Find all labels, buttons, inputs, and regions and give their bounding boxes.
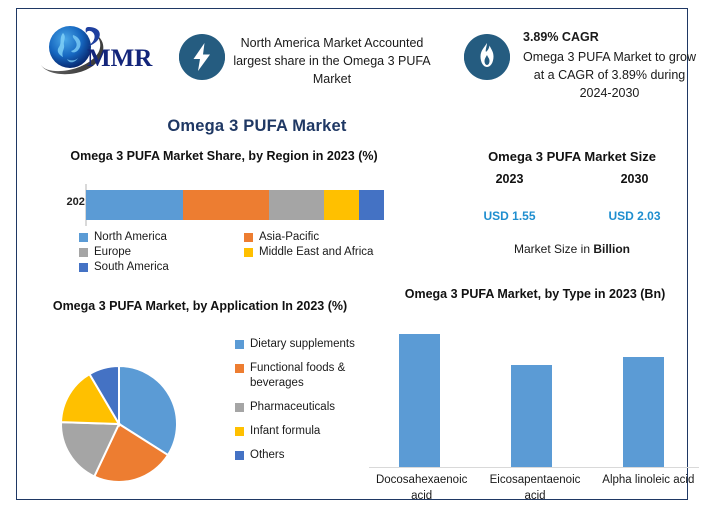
- logo-text: MMR: [87, 45, 153, 72]
- legend-swatch-icon: [79, 263, 88, 272]
- region-legend-label: Asia-Pacific: [259, 231, 319, 243]
- globe-icon: MMR: [37, 21, 167, 79]
- legend-swatch-icon: [244, 248, 253, 257]
- region-segment-0: [86, 190, 183, 220]
- lightning-bolt-badge: [179, 34, 225, 80]
- application-legend-item[interactable]: Others: [235, 448, 385, 463]
- region-stacked-bar-chart: 2023: [39, 184, 399, 226]
- market-size-value-2023: USD 1.55: [447, 209, 572, 223]
- flame-badge: [464, 34, 510, 80]
- application-legend-item[interactable]: Infant formula: [235, 424, 385, 439]
- type-bar-1: [511, 365, 552, 467]
- region-segment-1: [183, 190, 269, 220]
- cagr-value: 3.89% CAGR: [523, 28, 702, 46]
- region-category-label: 2023: [39, 196, 91, 208]
- legend-row: North AmericaAsia-Pacific: [79, 231, 409, 243]
- region-segment-3: [324, 190, 358, 220]
- type-category-label: Alpha linoleic acid: [592, 473, 704, 504]
- legend-swatch-icon: [235, 340, 244, 349]
- region-legend-label: South America: [94, 261, 169, 273]
- type-chart-title: Omega 3 PUFA Market, by Type in 2023 (Bn…: [375, 286, 695, 303]
- legend-swatch-icon: [235, 364, 244, 373]
- legend-swatch-icon: [235, 427, 244, 436]
- market-size-unit: Market Size in Billion: [447, 242, 697, 256]
- infographic-frame: MMR North America Market Accounted large…: [16, 8, 688, 500]
- market-size-unit-bold: Billion: [593, 242, 630, 256]
- application-legend-item[interactable]: Dietary supplements: [235, 337, 385, 352]
- application-legend-label: Pharmaceuticals: [250, 400, 335, 415]
- legend-swatch-icon: [235, 451, 244, 460]
- lightning-bolt-icon: [179, 34, 225, 80]
- market-size-year-2023: 2023: [447, 172, 572, 186]
- application-pie-chart: [59, 364, 179, 484]
- legend-row: South America: [79, 261, 409, 273]
- region-legend-label: Middle East and Africa: [259, 246, 373, 258]
- region-legend-label: North America: [94, 231, 167, 243]
- type-bar-2: [623, 357, 664, 467]
- type-category-labels: Docosahexaenoic acidEicosapentaenoic aci…: [365, 473, 704, 504]
- region-segment-4: [359, 190, 384, 220]
- market-size-unit-prefix: Market Size in: [514, 242, 593, 256]
- region-segment-2: [269, 190, 324, 220]
- flame-icon: [464, 34, 510, 80]
- region-legend-item[interactable]: North America: [79, 231, 244, 243]
- region-legend-item[interactable]: Asia-Pacific: [244, 231, 409, 243]
- application-legend-item[interactable]: Functional foods & beverages: [235, 361, 385, 391]
- cagr-note: 3.89% CAGR Omega 3 PUFA Market to grow a…: [517, 28, 702, 103]
- region-chart-title: Omega 3 PUFA Market Share, by Region in …: [59, 148, 389, 165]
- type-bar-0: [399, 334, 440, 467]
- market-size-value-2030: USD 2.03: [572, 209, 697, 223]
- pie-svg: [59, 364, 179, 484]
- application-legend: Dietary supplementsFunctional foods & be…: [235, 337, 385, 472]
- region-bar-track: [86, 190, 384, 220]
- region-legend-item[interactable]: Europe: [79, 246, 244, 258]
- application-legend-label: Functional foods & beverages: [250, 361, 385, 391]
- region-legend: North AmericaAsia-PacificEuropeMiddle Ea…: [79, 231, 409, 276]
- legend-row: EuropeMiddle East and Africa: [79, 246, 409, 258]
- market-size-values: USD 1.55 USD 2.03: [447, 209, 697, 223]
- application-legend-label: Dietary supplements: [250, 337, 355, 352]
- region-legend-item[interactable]: Middle East and Africa: [244, 246, 409, 258]
- legend-swatch-icon: [244, 233, 253, 242]
- application-legend-label: Others: [250, 448, 285, 463]
- infographic-canvas: MMR North America Market Accounted large…: [0, 0, 704, 522]
- mmr-logo[interactable]: MMR: [37, 21, 167, 79]
- market-size-years: 2023 2030: [447, 172, 697, 186]
- north-america-note: North America Market Accounted largest s…: [232, 34, 432, 88]
- region-legend-label: Europe: [94, 246, 131, 258]
- page-title: Omega 3 PUFA Market: [17, 117, 497, 136]
- type-plot-area: [369, 324, 699, 467]
- type-axis-line: [369, 467, 699, 468]
- application-legend-item[interactable]: Pharmaceuticals: [235, 400, 385, 415]
- cagr-description: Omega 3 PUFA Market to grow at a CAGR of…: [517, 48, 702, 102]
- application-chart-title: Omega 3 PUFA Market, by Application In 2…: [25, 298, 375, 315]
- market-size-title: Omega 3 PUFA Market Size: [447, 149, 697, 164]
- type-bar-chart: [369, 324, 699, 469]
- legend-swatch-icon: [235, 403, 244, 412]
- application-legend-label: Infant formula: [250, 424, 320, 439]
- legend-swatch-icon: [79, 233, 88, 242]
- market-size-year-2030: 2030: [572, 172, 697, 186]
- type-category-label: Docosahexaenoic acid: [365, 473, 478, 504]
- legend-swatch-icon: [79, 248, 88, 257]
- region-legend-item[interactable]: South America: [79, 261, 244, 273]
- type-category-label: Eicosapentaenoic acid: [478, 473, 591, 504]
